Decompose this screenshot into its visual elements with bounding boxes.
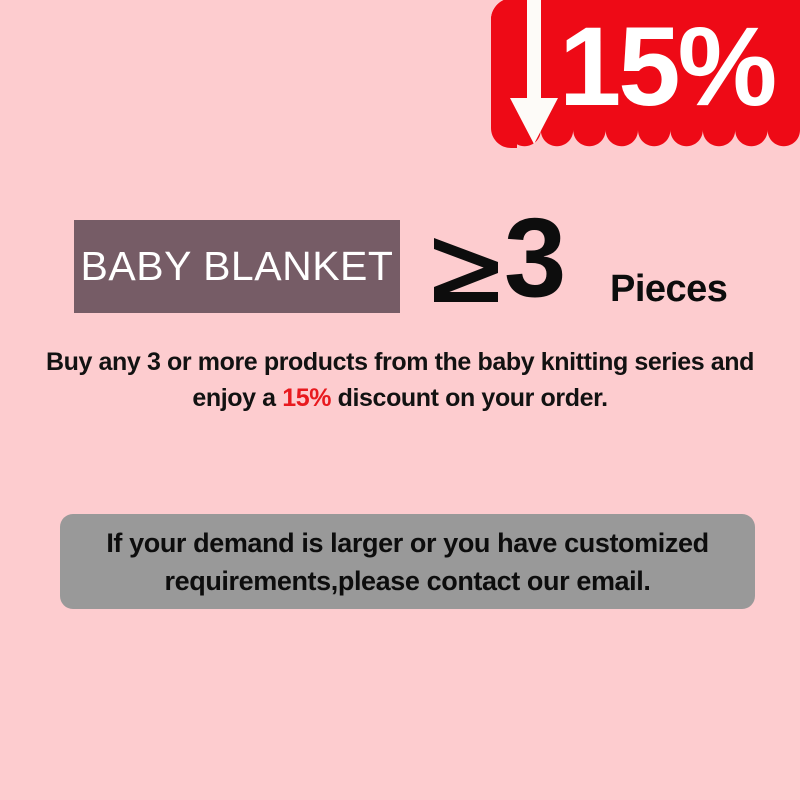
contact-notice-line-2: requirements,please contact our email. bbox=[106, 562, 708, 600]
description-line-2: enjoy a 15% discount on your order. bbox=[40, 380, 760, 416]
product-label-box: BABY BLANKET bbox=[74, 220, 400, 313]
discount-badge: 15% bbox=[491, 0, 800, 160]
quantity-unit: Pieces bbox=[610, 270, 727, 308]
product-label-text: BABY BLANKET bbox=[81, 243, 394, 290]
description-line-2-prefix: enjoy a bbox=[192, 384, 282, 412]
description-line-1: Buy any 3 or more products from the baby… bbox=[40, 344, 760, 380]
promo-banner: 15% BABY BLANKET 3 Pieces Buy any 3 or m… bbox=[0, 0, 800, 800]
description-line-2-suffix: discount on your order. bbox=[331, 384, 608, 412]
contact-notice-box: If your demand is larger or you have cus… bbox=[60, 514, 755, 609]
description-discount-highlight: 15% bbox=[282, 384, 331, 412]
contact-notice-line-1: If your demand is larger or you have cus… bbox=[106, 524, 708, 562]
minimum-quantity-group: 3 Pieces bbox=[432, 216, 762, 316]
promo-description: Buy any 3 or more products from the baby… bbox=[40, 344, 760, 416]
greater-than-or-equal-icon bbox=[432, 232, 502, 304]
discount-percent-text: 15% bbox=[559, 3, 794, 131]
contact-notice-text: If your demand is larger or you have cus… bbox=[106, 524, 708, 600]
arrow-down-icon bbox=[508, 0, 560, 146]
quantity-number: 3 bbox=[504, 202, 564, 314]
